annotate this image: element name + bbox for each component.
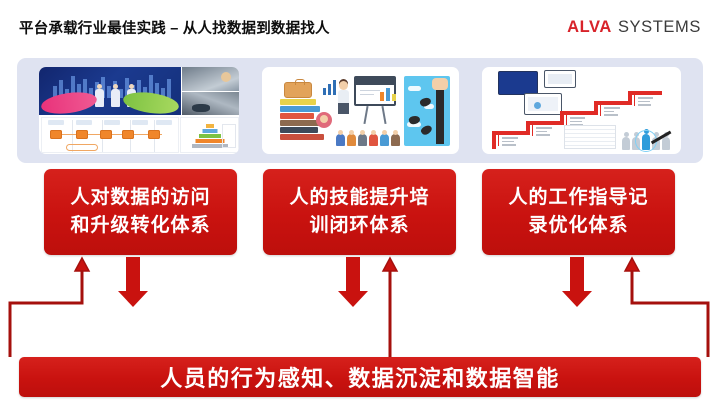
brand-primary-text: ALVA — [567, 18, 612, 37]
monitor-large-icon — [498, 71, 538, 95]
helping-hand-icon — [432, 78, 448, 90]
down-arrow-card-3 — [562, 257, 592, 307]
factory-photo-top — [182, 67, 239, 91]
slide-header: 平台承载行业最佳实践 – 从人找数据到数据找人 ALVA SYSTEMS — [0, 0, 720, 48]
panel-training-illustrations — [262, 67, 459, 154]
process-flow-diagram — [41, 117, 179, 153]
tech-visual-image — [39, 67, 181, 115]
monitor-small-icon — [544, 70, 576, 88]
panel-container — [17, 58, 703, 163]
down-arrow-card-1 — [118, 257, 148, 307]
up-arrow-card-1 — [10, 258, 89, 357]
up-arrow-card-2 — [383, 258, 397, 357]
brand-logo: ALVA SYSTEMS — [567, 18, 701, 37]
student-avatar-icon — [316, 112, 332, 128]
briefcase-icon — [284, 82, 312, 98]
bottom-summary-bar[interactable]: 人员的行为感知、数据沉淀和数据智能 — [19, 357, 701, 397]
card-line-1: 人对数据的访问 — [70, 184, 210, 212]
whiteboard-screen — [354, 76, 396, 106]
data-table-thumbnail — [564, 125, 616, 149]
slide-root: 平台承载行业最佳实践 – 从人找数据到数据找人 ALVA SYSTEMS — [0, 0, 720, 405]
card-work-guidance[interactable]: 人的工作指导记 录优化体系 — [482, 169, 675, 255]
card-skill-training[interactable]: 人的技能提升培 训闭环体系 — [263, 169, 456, 255]
card-line-2: 录优化体系 — [528, 212, 628, 240]
brand-secondary-text: SYSTEMS — [618, 18, 701, 37]
presentation-training-icon — [336, 76, 398, 146]
card-line-1: 人的技能提升培 — [289, 184, 429, 212]
pink-arc-graphic — [40, 89, 98, 115]
tablet-icon — [524, 93, 562, 115]
green-arc-graphic — [122, 89, 180, 115]
panel-data-access-collage — [39, 67, 239, 154]
up-arrow-card-3 — [625, 258, 708, 357]
pyramid-diagram — [180, 117, 239, 153]
presenter-figure — [337, 81, 350, 115]
card-line-1: 人的工作指导记 — [508, 184, 648, 212]
down-arrow-card-2 — [338, 257, 368, 307]
page-title: 平台承载行业最佳实践 – 从人找数据到数据找人 — [19, 17, 330, 38]
card-line-2: 训闭环体系 — [309, 212, 409, 240]
bar-chart-icon — [323, 80, 336, 95]
career-growth-icon — [404, 76, 450, 146]
audience-figures — [336, 134, 400, 146]
books-and-briefcase-icon — [274, 76, 330, 146]
factory-photo-bottom — [182, 92, 239, 115]
card-data-access[interactable]: 人对数据的访问 和升级转化体系 — [44, 169, 237, 255]
panel-work-guidance-staircase — [482, 67, 681, 154]
connector-arrows: .thin { fill:none; stroke:#a5100d; strok… — [0, 255, 720, 365]
card-line-2: 和升级转化体系 — [70, 212, 210, 240]
bottom-bar-label: 人员的行为感知、数据沉淀和数据智能 — [160, 361, 560, 393]
